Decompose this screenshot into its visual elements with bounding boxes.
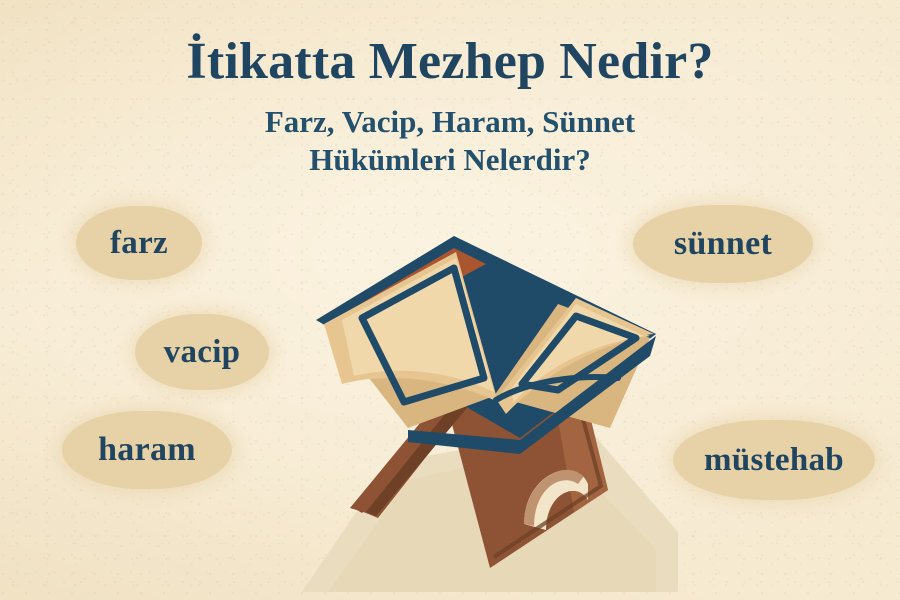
page-subtitle-line-1: Farz, Vacip, Haram, Sünnet: [0, 103, 900, 141]
pill-mustehab[interactable]: müstehab: [673, 420, 875, 500]
poster-canvas: İtikatta Mezhep Nedir? Farz, Vacip, Hara…: [0, 0, 900, 600]
pill-haram[interactable]: haram: [62, 411, 232, 489]
page-title: İtikatta Mezhep Nedir?: [0, 34, 900, 89]
page-subtitle: Farz, Vacip, Haram, Sünnet Hükümleri Nel…: [0, 103, 900, 179]
pill-vacip[interactable]: vacip: [135, 314, 269, 390]
heading-block: İtikatta Mezhep Nedir? Farz, Vacip, Hara…: [0, 34, 900, 179]
pill-farz[interactable]: farz: [76, 206, 202, 280]
book-on-rehal-illustration: [258, 232, 678, 592]
pill-sunnet[interactable]: sünnet: [633, 205, 813, 283]
page-subtitle-line-2: Hükümleri Nelerdir?: [0, 141, 900, 179]
